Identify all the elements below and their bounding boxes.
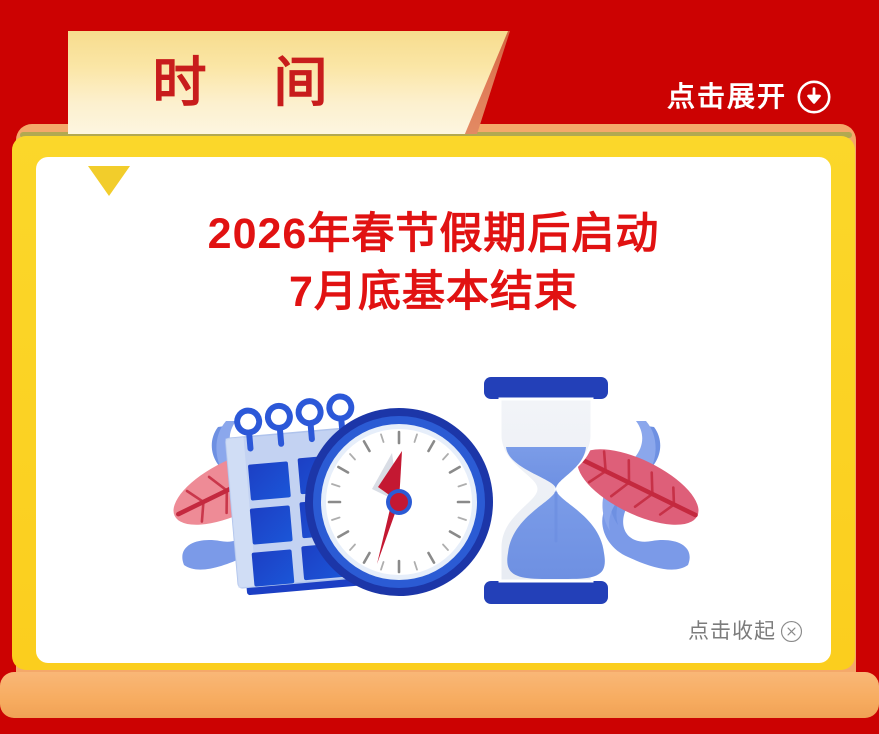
card-title-line-1: 2026年春节假期后启动 xyxy=(36,205,831,263)
circle-close-icon[interactable] xyxy=(780,620,803,643)
card-title: 2026年春节假期后启动 7月底基本结束 xyxy=(36,205,831,321)
clock-icon xyxy=(305,408,493,596)
collapse-button-label: 点击收起 xyxy=(688,621,776,642)
header-tab[interactable]: 时 间 xyxy=(68,31,508,134)
expand-button-label: 点击展开 xyxy=(667,83,787,111)
time-illustration xyxy=(156,369,716,614)
content-card: 2026年春节假期后启动 7月底基本结束 xyxy=(36,157,831,663)
collapse-button[interactable]: 点击收起 xyxy=(688,620,803,643)
expand-button[interactable]: 点击展开 xyxy=(667,80,831,114)
header-tab-title: 时 间 xyxy=(68,31,508,134)
card-title-line-2: 7月底基本结束 xyxy=(36,263,831,321)
circle-arrow-down-icon[interactable] xyxy=(797,80,831,114)
card-bottom-bar xyxy=(0,672,879,718)
triangle-down-marker xyxy=(88,166,130,196)
poster-stage: 时 间 点击展开 2026年春节假期后启动 7月底基本结束 xyxy=(0,0,879,734)
